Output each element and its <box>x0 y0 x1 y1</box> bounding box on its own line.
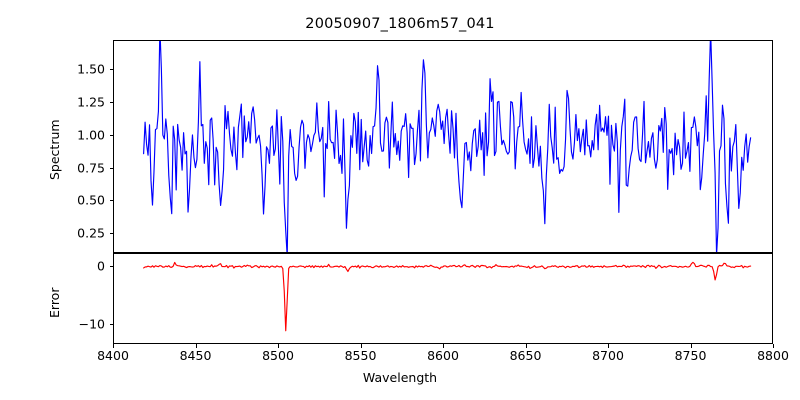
spectrum-ytick-mark <box>110 135 114 136</box>
xtick-label: 8600 <box>427 348 459 363</box>
spectrum-ytick-mark <box>110 233 114 234</box>
spectrum-figure: 20050907_1806m57_041 0.250.500.751.001.2… <box>0 0 800 400</box>
wavelength-axis-label: Wavelength <box>0 370 800 385</box>
xtick-label: 8400 <box>97 348 129 363</box>
spectrum-ytick-label: 0.75 <box>55 160 105 175</box>
spectrum-ytick-label: 1.00 <box>55 127 105 142</box>
error-ytick-label: −10 <box>55 316 105 331</box>
spectrum-ytick-mark <box>110 168 114 169</box>
spectrum-plot-panel <box>113 40 773 253</box>
xtick-mark <box>443 344 444 348</box>
xtick-label: 8800 <box>757 348 789 363</box>
spectrum-ytick-label: 1.25 <box>55 94 105 109</box>
xtick-mark <box>691 344 692 348</box>
spectrum-ytick-label: 1.50 <box>55 61 105 76</box>
error-ytick-label: 0 <box>55 258 105 273</box>
xtick-mark <box>608 344 609 348</box>
xtick-label: 8700 <box>592 348 624 363</box>
spectrum-ytick-label: 0.50 <box>55 193 105 208</box>
error-plot-panel <box>113 253 773 344</box>
spectrum-series <box>114 41 772 252</box>
xtick-mark <box>526 344 527 348</box>
error-ytick-mark <box>110 266 114 267</box>
xtick-label: 8750 <box>675 348 707 363</box>
xtick-label: 8650 <box>510 348 542 363</box>
xtick-label: 8550 <box>345 348 377 363</box>
error-series <box>114 254 772 343</box>
xtick-mark <box>196 344 197 348</box>
spectrum-ytick-label: 0.25 <box>55 226 105 241</box>
xtick-mark <box>113 344 114 348</box>
spectrum-ytick-mark <box>110 69 114 70</box>
xtick-mark <box>773 344 774 348</box>
xtick-mark <box>278 344 279 348</box>
spectrum-ytick-mark <box>110 200 114 201</box>
error-ytick-mark <box>110 324 114 325</box>
spectrum-axis-label: Spectrum <box>47 119 62 180</box>
xtick-label: 8500 <box>262 348 294 363</box>
error-axis-label: Error <box>47 288 62 318</box>
spectrum-ytick-mark <box>110 102 114 103</box>
figure-title: 20050907_1806m57_041 <box>0 16 800 32</box>
xtick-label: 8450 <box>180 348 212 363</box>
xtick-mark <box>361 344 362 348</box>
